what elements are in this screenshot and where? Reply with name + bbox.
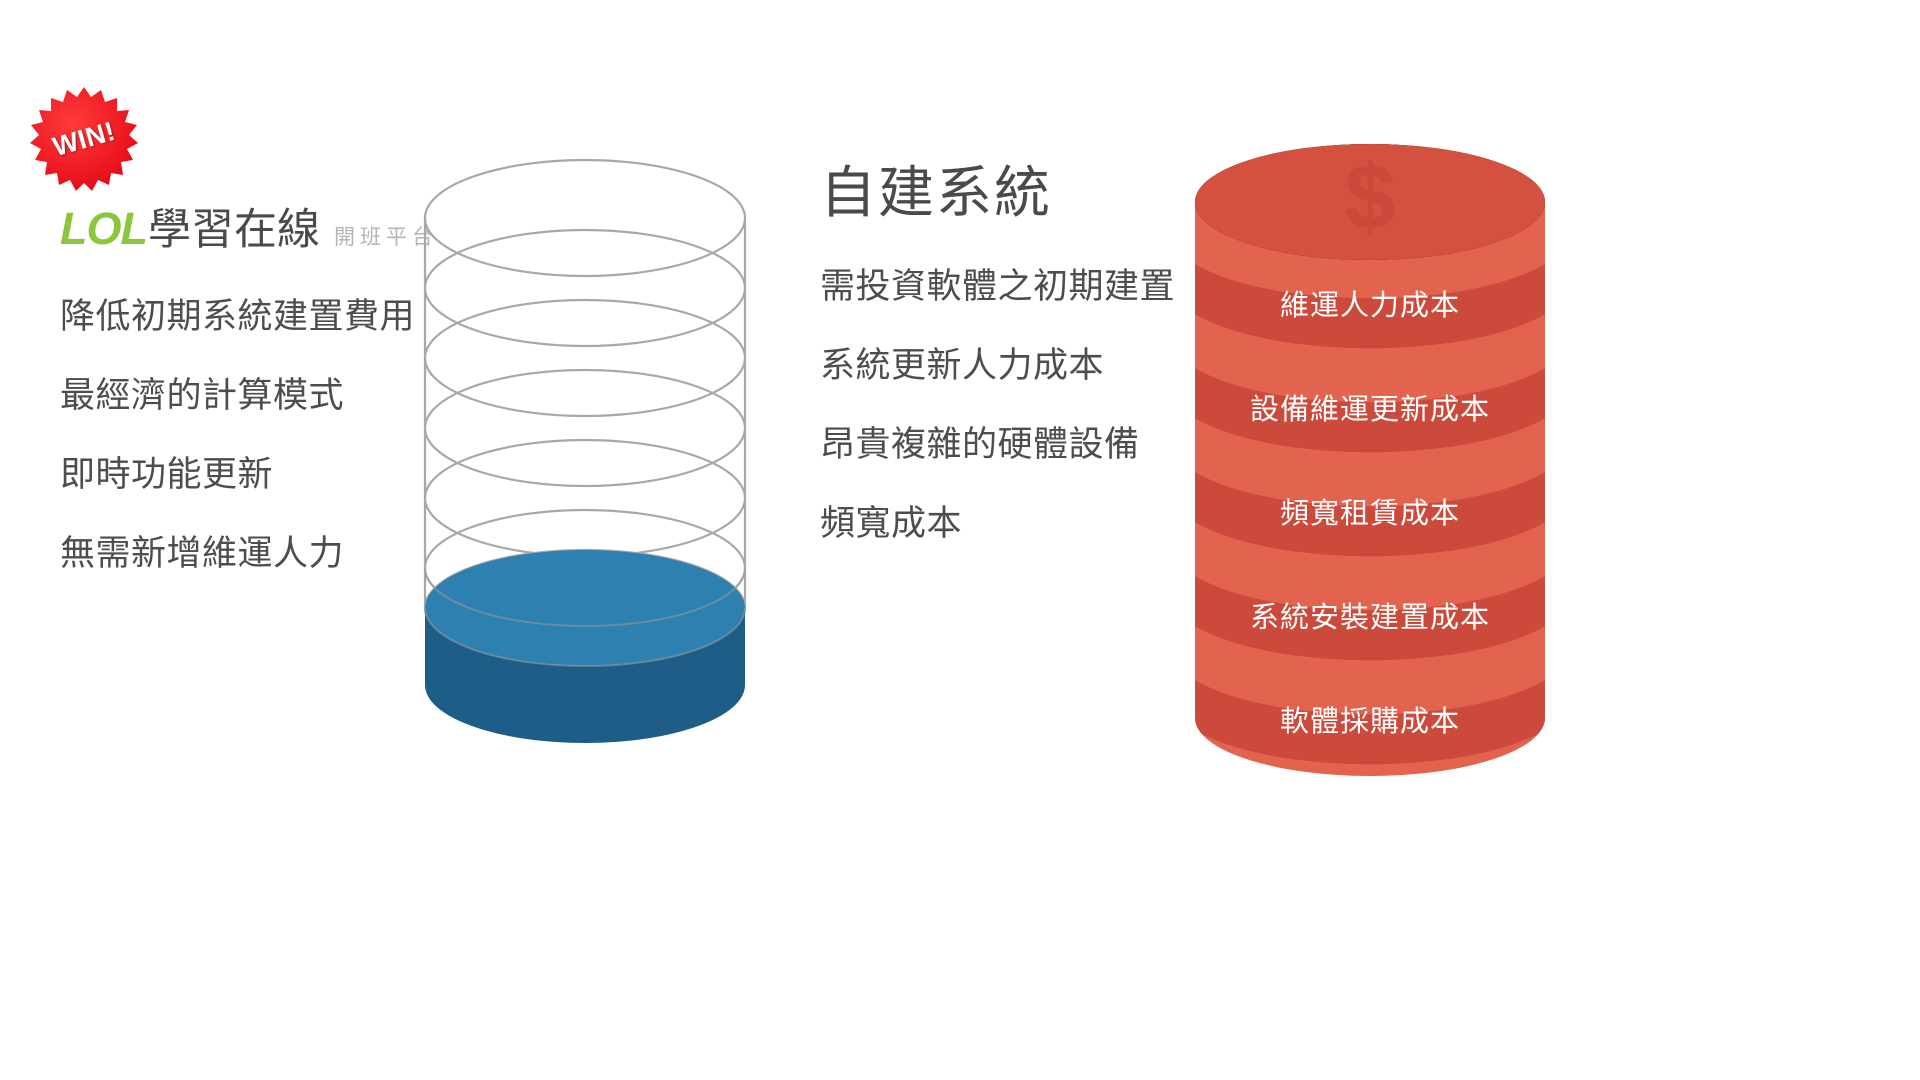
list-item: 無需新增維運人力 — [60, 536, 460, 571]
list-item: 昂貴複雜的硬體設備 — [820, 427, 1220, 462]
cloud-cost-cylinder — [420, 140, 800, 760]
selfbuilt-cost-stack: $ — [1190, 140, 1550, 780]
logo-mark: LOL — [60, 203, 147, 255]
list-item: 頻寬成本 — [820, 506, 1220, 541]
right-column: 自建系統 需投資軟體之初期建置 系統更新人力成本 昂貴複雜的硬體設備 頻寬成本 — [820, 165, 1220, 585]
list-item: 系統更新人力成本 — [820, 348, 1220, 383]
left-column: LOL 學習在線 開班平台 降低初期系統建置費用 最經濟的計算模式 即時功能更新… — [60, 195, 460, 615]
left-benefit-list: 降低初期系統建置費用 最經濟的計算模式 即時功能更新 無需新增維運人力 — [60, 299, 460, 571]
list-item: 最經濟的計算模式 — [60, 378, 460, 413]
product-logo: LOL 學習在線 開班平台 — [60, 195, 460, 257]
list-item: 需投資軟體之初期建置 — [820, 269, 1220, 304]
win-badge: WIN! — [30, 85, 138, 193]
list-item: 降低初期系統建置費用 — [60, 299, 460, 334]
page-title: 自建系統 — [820, 165, 1220, 221]
monthly-fee-cylinder — [425, 550, 745, 743]
infographic-canvas: WIN! LOL 學習在線 開班平台 降低初期系統建置費用 最經濟的計算模式 即… — [0, 0, 1920, 1080]
list-item: 即時功能更新 — [60, 457, 460, 492]
monthly-fee-label: 服務月租 — [420, 838, 800, 886]
dollar-sign-icon: $ — [1344, 146, 1395, 248]
logo-name: 學習在線 — [148, 195, 320, 257]
right-cost-list: 需投資軟體之初期建置 系統更新人力成本 昂貴複雜的硬體設備 頻寬成本 — [820, 269, 1220, 541]
